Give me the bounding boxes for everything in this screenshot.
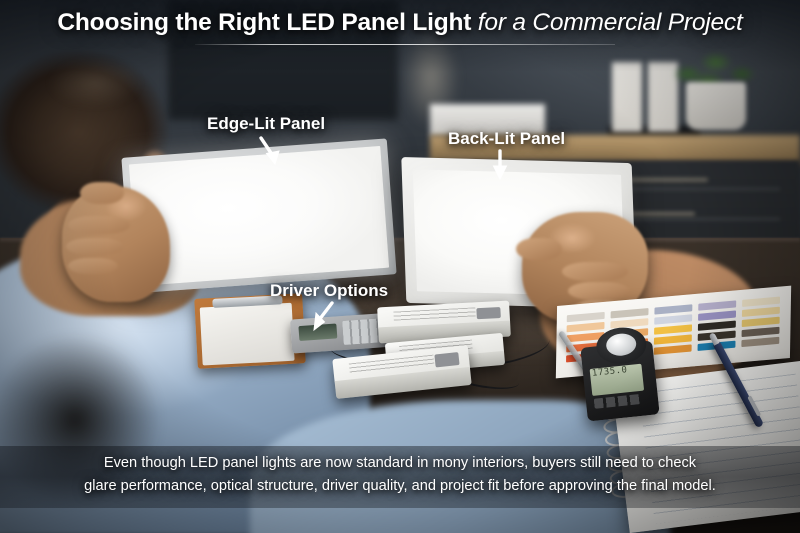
infographic-image: 1735.0 Choosing the Right LED Panel Ligh… [0, 0, 800, 533]
left-finger-2 [66, 238, 124, 255]
color-swatch [742, 297, 780, 307]
person-hair-highlight [30, 48, 160, 118]
page-title-italic: for a Commercial Project [478, 9, 743, 36]
caption-line-1: Even though LED panel lights are now sta… [104, 455, 696, 471]
page-title-bold: Choosing the Right LED Panel Light [57, 9, 471, 36]
left-finger-1 [68, 216, 130, 234]
color-swatch [610, 318, 648, 328]
swatch-column-tans [741, 297, 780, 351]
color-swatch [654, 324, 692, 334]
color-swatch [654, 314, 692, 324]
caption-text: Even though LED panel lights are now sta… [0, 452, 800, 498]
color-swatch [567, 322, 605, 332]
light-meter-lens [605, 332, 637, 357]
right-thumb [516, 238, 562, 260]
page-title: Choosing the Right LED Panel Light for a… [0, 9, 800, 37]
left-thumb [80, 182, 124, 204]
color-swatch [742, 307, 780, 317]
notebook-ruled-lines [639, 374, 800, 524]
callout-label-back-lit: Back-Lit Panel [448, 129, 565, 149]
light-meter-lcd: 1735.0 [590, 364, 645, 396]
color-swatch [742, 317, 780, 327]
person-left-hand [62, 186, 170, 302]
driver-terminal-window [476, 307, 500, 320]
color-swatch [742, 327, 780, 337]
color-swatch [654, 304, 692, 314]
left-finger-3 [68, 258, 118, 274]
light-meter-buttons[interactable] [594, 394, 641, 409]
person-shoulder-shadow [0, 300, 190, 533]
color-swatch [611, 308, 649, 318]
right-finger-2 [568, 282, 630, 300]
swatch-column-yellows [654, 304, 693, 358]
color-swatch [698, 300, 736, 310]
caption-line-2: glare performance, optical structure, dr… [0, 475, 800, 498]
remote-screen [298, 323, 337, 341]
color-swatch [567, 312, 605, 322]
callout-label-edge-lit: Edge-Lit Panel [207, 114, 325, 134]
color-swatch [654, 344, 692, 354]
color-swatch [741, 337, 779, 347]
light-meter: 1735.0 [580, 340, 659, 421]
color-swatch [698, 321, 736, 331]
callout-label-driver-options: Driver Options [270, 281, 388, 301]
potted-plant-pot [686, 82, 746, 130]
clipboard [194, 293, 306, 369]
color-swatch [698, 310, 736, 320]
right-finger-1 [562, 262, 628, 281]
clipboard-paper [200, 303, 295, 366]
color-swatch [654, 334, 692, 344]
title-divider [195, 44, 615, 45]
background-binder-left [612, 62, 642, 132]
